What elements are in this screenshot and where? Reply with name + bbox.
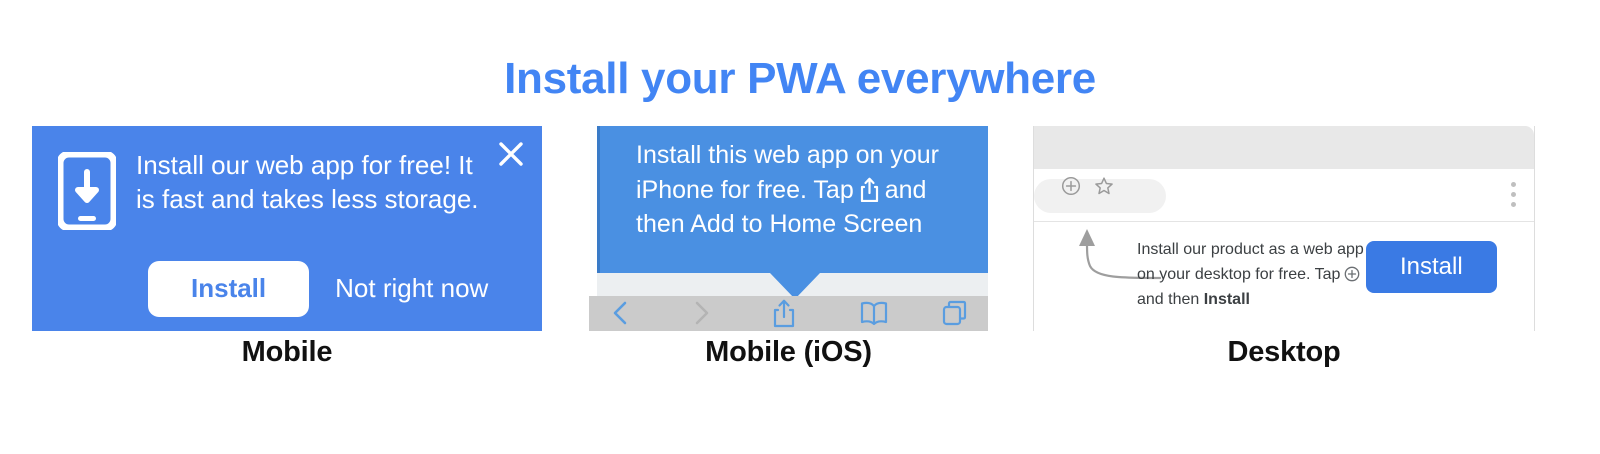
install-button[interactable]: Install (148, 261, 309, 317)
not-right-now-button[interactable]: Not right now (335, 273, 488, 304)
share-icon[interactable] (771, 297, 797, 331)
bookmarks-book-icon[interactable] (859, 297, 889, 331)
panels-row: Install our web app for free! It is fast… (0, 126, 1600, 396)
desktop-browser-frame: Install our product as a web app on your… (1033, 126, 1535, 331)
close-icon[interactable] (497, 140, 525, 168)
browser-toolbar-row (1034, 169, 1534, 222)
kebab-menu-icon[interactable] (1511, 182, 1516, 207)
page-title: Install your PWA everywhere (0, 55, 1600, 103)
desktop-tooltip-text-part1: Install our product as a web app on your… (1137, 241, 1364, 283)
phone-download-icon (58, 152, 116, 230)
install-button[interactable]: Install (1366, 241, 1497, 293)
ios-share-icon (859, 177, 880, 202)
panel-mobile: Install our web app for free! It is fast… (32, 126, 542, 331)
desktop-tooltip-bold-install: Install (1204, 291, 1250, 308)
bookmark-star-icon[interactable] (1094, 176, 1114, 196)
install-plus-circle-icon (1344, 266, 1360, 282)
ios-safari-frame: Install this web app on your iPhone for … (589, 126, 988, 331)
ios-tooltip-message: Install this web app on your iPhone for … (636, 138, 981, 242)
ios-install-tooltip: Install this web app on your iPhone for … (597, 126, 988, 273)
panel-desktop: Install our product as a web app on your… (1033, 126, 1535, 331)
browser-tab-strip (1034, 126, 1534, 169)
ios-safari-toolbar (589, 296, 988, 331)
panel-mobile-ios: Install this web app on your iPhone for … (589, 126, 988, 331)
mobile-install-banner: Install our web app for free! It is fast… (32, 126, 542, 331)
desktop-tooltip-text-part2: and then (1137, 291, 1199, 308)
desktop-tooltip-message: Install our product as a web app on your… (1137, 238, 1373, 312)
mobile-banner-actions: Install Not right now (148, 261, 488, 317)
mobile-banner-message: Install our web app for free! It is fast… (136, 148, 496, 217)
tabs-icon[interactable] (941, 297, 969, 331)
caption-desktop: Desktop (1033, 336, 1535, 369)
install-plus-circle-icon[interactable] (1061, 176, 1081, 196)
back-chevron-icon[interactable] (609, 297, 633, 331)
forward-chevron-icon (689, 297, 713, 331)
caption-mobile-ios: Mobile (iOS) (589, 336, 988, 369)
caption-mobile: Mobile (32, 336, 542, 369)
